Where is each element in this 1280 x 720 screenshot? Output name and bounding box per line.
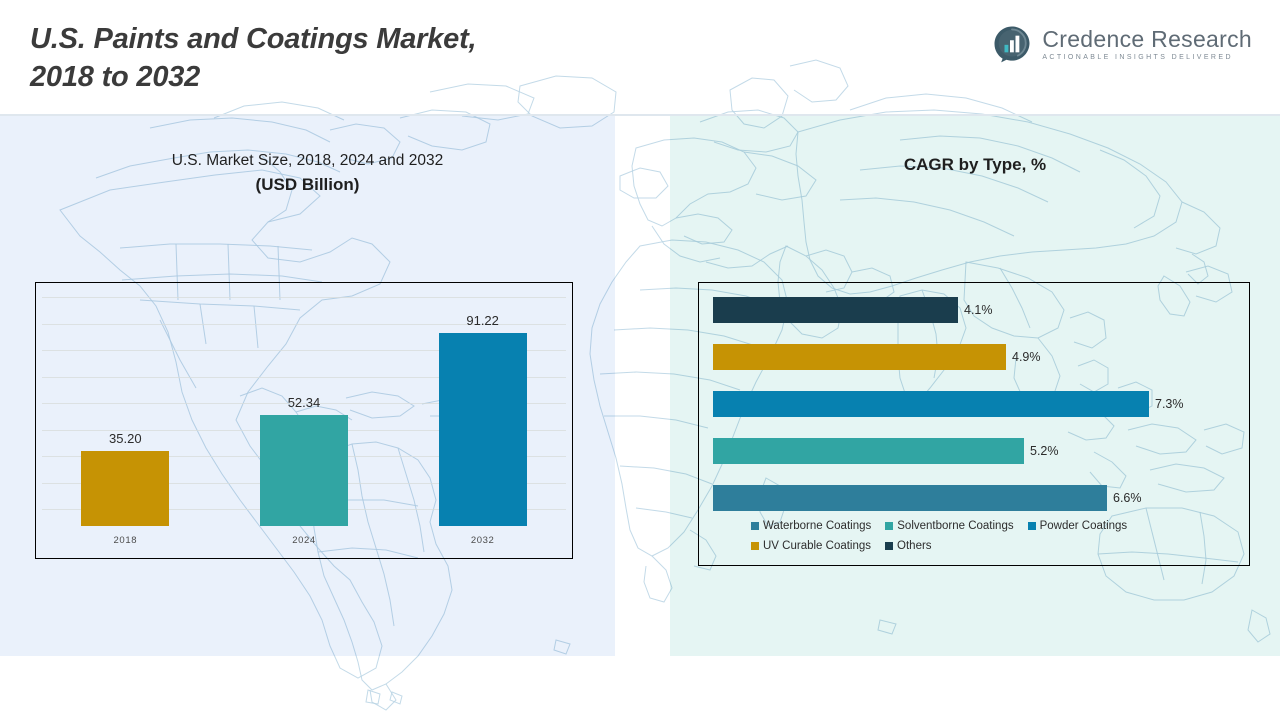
category-label: 2024 bbox=[260, 535, 348, 546]
horizontal-bar-group: 4.1%4.9%7.3%5.2%6.6% bbox=[713, 297, 1239, 511]
legend-swatch bbox=[885, 542, 893, 550]
category-label: 2032 bbox=[439, 535, 527, 546]
infographic-page: U.S. Paints and Coatings Market, 2018 to… bbox=[0, 0, 1280, 720]
bar bbox=[260, 415, 348, 526]
bar bbox=[81, 451, 169, 526]
bar-value-label: 5.2% bbox=[1030, 444, 1059, 458]
cagr-heading: CAGR by Type, % bbox=[670, 152, 1280, 178]
legend-item[interactable]: Others bbox=[885, 537, 932, 555]
legend-swatch bbox=[751, 522, 759, 530]
legend-label: UV Curable Coatings bbox=[763, 537, 871, 555]
market-size-heading: U.S. Market Size, 2018, 2024 and 2032 (U… bbox=[60, 150, 555, 198]
bar bbox=[713, 344, 1006, 370]
bar-row: 7.3% bbox=[713, 391, 1239, 417]
legend-swatch bbox=[1028, 522, 1036, 530]
bar-row: 6.6% bbox=[713, 485, 1239, 511]
legend-item[interactable]: UV Curable Coatings bbox=[751, 537, 871, 555]
bar-row: 4.1% bbox=[713, 297, 1239, 323]
bar bbox=[713, 297, 958, 323]
legend-label: Powder Coatings bbox=[1040, 517, 1128, 535]
legend-item[interactable]: Powder Coatings bbox=[1028, 517, 1128, 535]
legend-label: Others bbox=[897, 537, 932, 555]
bar-value-label: 91.22 bbox=[466, 313, 499, 328]
cagr-chart: CAGR by Type, % 4.1%4.9%7.3%5.2%6.6% Wat… bbox=[670, 140, 1280, 178]
market-size-title: U.S. Market Size, 2018, 2024 and 2032 bbox=[60, 150, 555, 172]
bar-value-label: 7.3% bbox=[1155, 397, 1184, 411]
cagr-plot-area: 4.1%4.9%7.3%5.2%6.6% Waterborne Coatings… bbox=[698, 282, 1250, 566]
page-title: U.S. Paints and Coatings Market, 2018 to… bbox=[30, 20, 670, 97]
header-divider bbox=[0, 114, 1280, 116]
bar-column: 35.20 bbox=[81, 291, 169, 526]
legend-item[interactable]: Waterborne Coatings bbox=[751, 517, 871, 535]
bar-row: 5.2% bbox=[713, 438, 1239, 464]
bar-value-label: 4.9% bbox=[1012, 350, 1041, 364]
logo-text: Credence Research Actionable Insights De… bbox=[1042, 27, 1252, 61]
category-label: 2018 bbox=[81, 535, 169, 546]
legend-item[interactable]: Solventborne Coatings bbox=[885, 517, 1013, 535]
bar-row: 4.9% bbox=[713, 344, 1239, 370]
bar-column: 91.22 bbox=[439, 291, 527, 526]
bar-chart-bubble-icon bbox=[992, 24, 1032, 64]
bar-value-label: 52.34 bbox=[288, 395, 321, 410]
cagr-legend: Waterborne CoatingsSolventborne Coatings… bbox=[751, 517, 1233, 555]
cagr-title: CAGR by Type, % bbox=[670, 152, 1280, 178]
bar-value-label: 6.6% bbox=[1113, 491, 1142, 505]
legend-label: Solventborne Coatings bbox=[897, 517, 1013, 535]
legend-label: Waterborne Coatings bbox=[763, 517, 871, 535]
bar bbox=[713, 485, 1107, 511]
market-size-plot-area: 35.2052.3491.22 201820242032 bbox=[35, 282, 573, 559]
logo-company-name: Credence Research bbox=[1042, 27, 1252, 51]
logo-tagline: Actionable Insights Delivered bbox=[1042, 54, 1252, 61]
legend-swatch bbox=[751, 542, 759, 550]
bar-column: 52.34 bbox=[260, 291, 348, 526]
market-size-subtitle: (USD Billion) bbox=[60, 172, 555, 198]
category-axis: 201820242032 bbox=[36, 530, 572, 550]
bar-value-label: 4.1% bbox=[964, 303, 993, 317]
bar bbox=[713, 391, 1149, 417]
market-size-chart: U.S. Market Size, 2018, 2024 and 2032 (U… bbox=[0, 140, 615, 198]
bar bbox=[713, 438, 1024, 464]
vertical-bar-group: 35.2052.3491.22 bbox=[36, 291, 572, 526]
legend-swatch bbox=[885, 522, 893, 530]
bar bbox=[439, 333, 527, 526]
header: U.S. Paints and Coatings Market, 2018 to… bbox=[0, 0, 1280, 116]
bar-value-label: 35.20 bbox=[109, 431, 142, 446]
brand-logo: Credence Research Actionable Insights De… bbox=[992, 24, 1252, 64]
